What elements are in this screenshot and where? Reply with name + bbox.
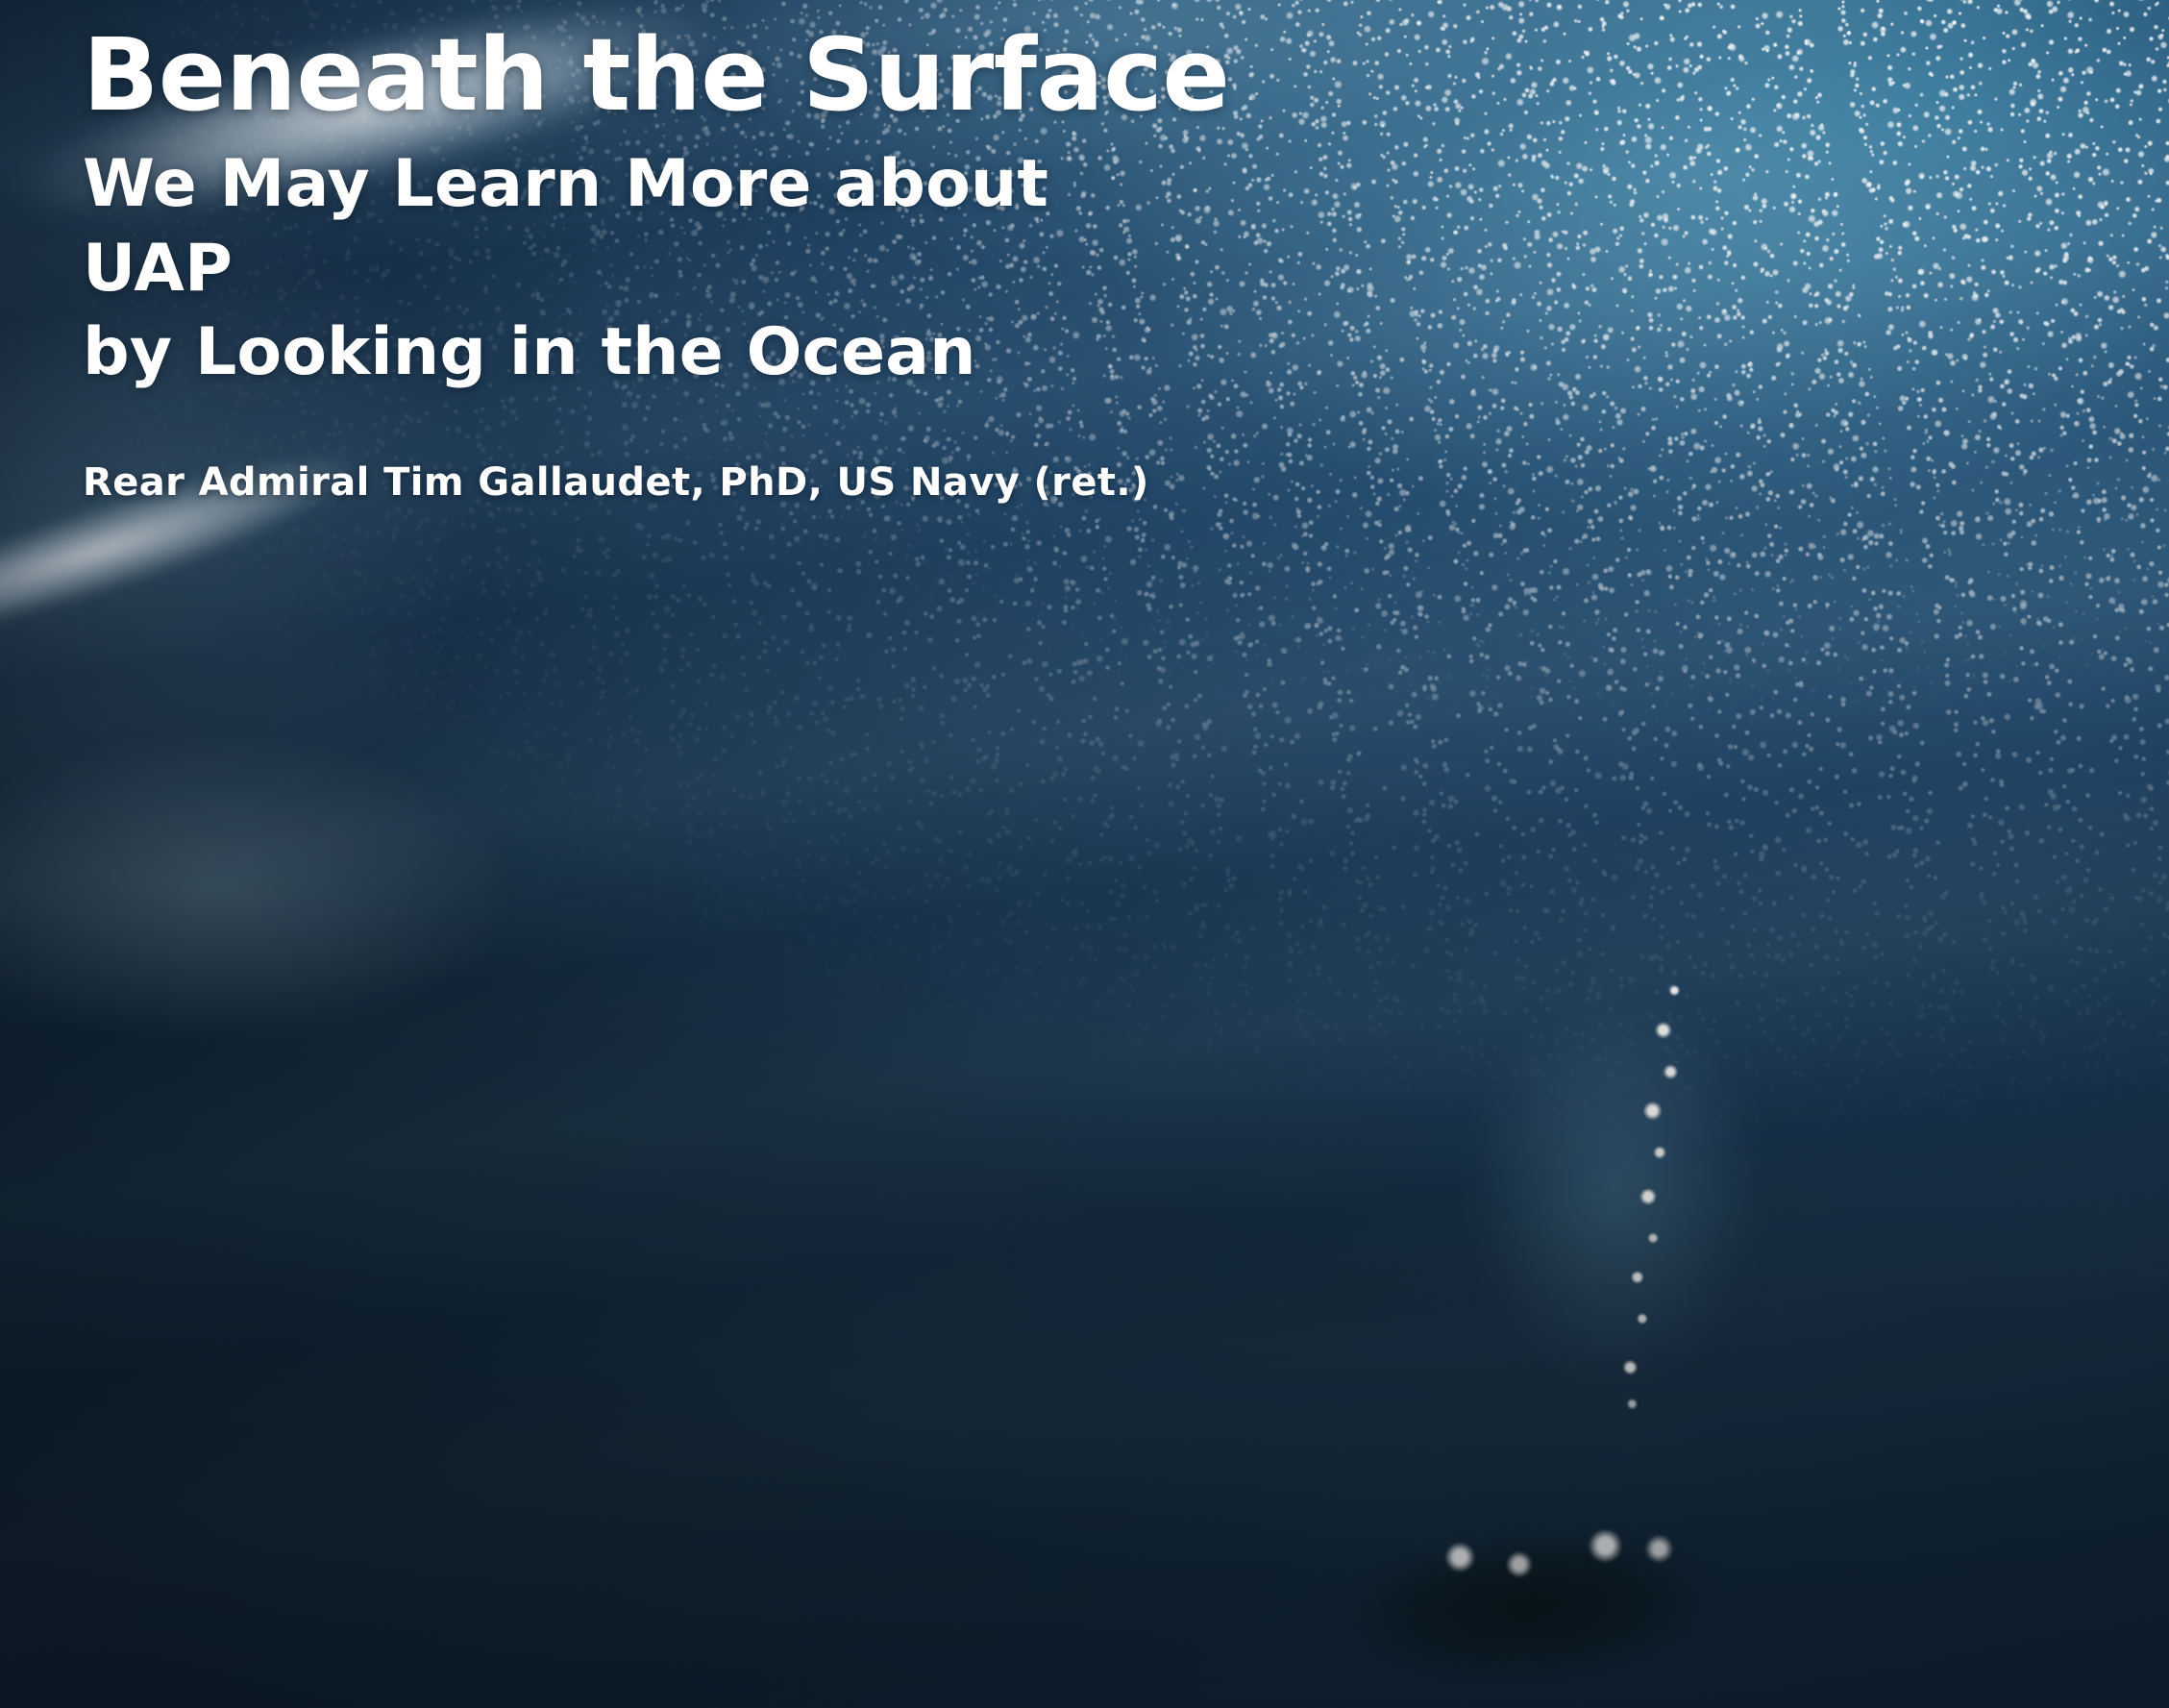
slide-byline: Rear Admiral Tim Gallaudet, PhD, US Navy… [83, 458, 1774, 507]
slide-title: Beneath the Surface [83, 19, 1774, 131]
slide-subtitle: We May Learn More about UAPby Looking in… [83, 142, 1169, 393]
slide-text-block: Beneath the Surface We May Learn More ab… [83, 19, 1774, 507]
presentation-slide: Beneath the Surface We May Learn More ab… [0, 0, 2169, 1708]
islet-breaking-surf [1422, 1530, 1691, 1582]
slide-subtitle-line-1: We May Learn More about UAP [83, 146, 1048, 306]
slide-subtitle-line-2: by Looking in the Ocean [83, 314, 976, 390]
